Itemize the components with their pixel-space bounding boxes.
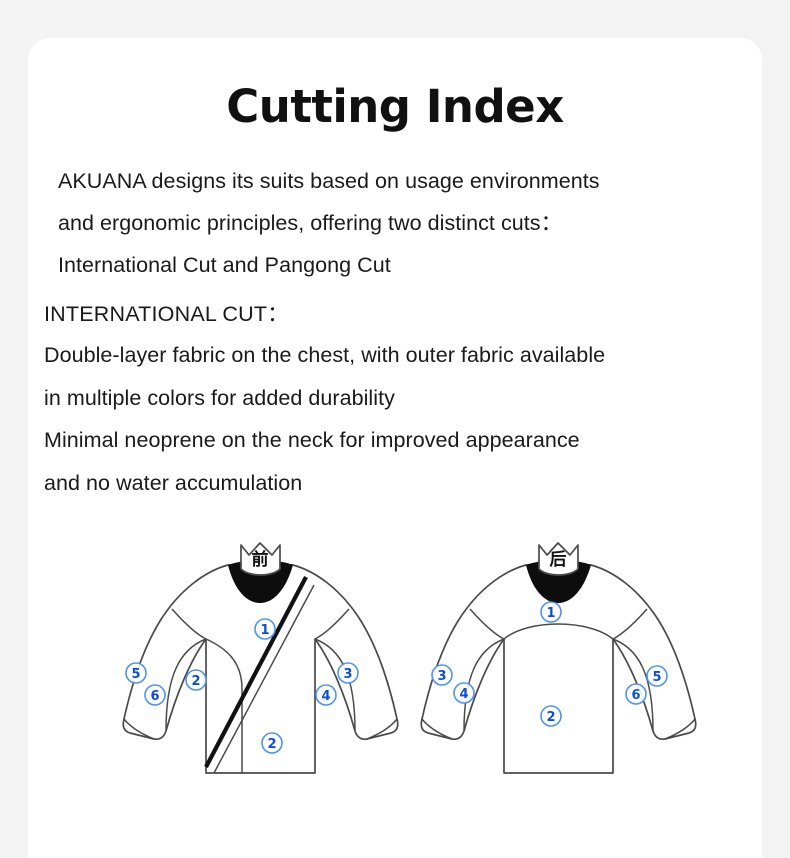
marker-1: 1	[255, 619, 275, 639]
wetsuit-diagrams: 前	[28, 523, 762, 823]
marker-4-label: 4	[459, 687, 468, 702]
body-line-2: in multiple colors for added durability	[44, 386, 395, 410]
marker-1: 1	[541, 602, 561, 622]
page-root: Cutting Index AKUANA designs its suits b…	[0, 0, 790, 839]
international-cut-section: INTERNATIONAL CUT： Double-layer fabric o…	[28, 287, 762, 505]
marker-5-label: 5	[652, 670, 661, 685]
marker-4: 4	[454, 683, 474, 703]
body-line-1: Double-layer fabric on the chest, with o…	[44, 343, 605, 367]
marker-3-label: 3	[343, 667, 352, 682]
front-view-label: 前	[252, 549, 269, 570]
section-heading-international-cut: INTERNATIONAL CUT：	[36, 287, 762, 335]
content-card: Cutting Index AKUANA designs its suits b…	[28, 38, 762, 858]
marker-3-label: 3	[437, 669, 446, 684]
page-title: Cutting Index	[28, 38, 762, 132]
intro-line-1: AKUANA designs its suits based on usage …	[58, 169, 600, 193]
marker-4-label: 4	[321, 689, 330, 704]
marker-4: 4	[316, 685, 336, 705]
marker-2: 2	[541, 706, 561, 726]
marker-6-label: 6	[150, 689, 159, 704]
intro-paragraph: AKUANA designs its suits based on usage …	[28, 132, 762, 287]
body-line-4: and no water accumulation	[44, 471, 302, 495]
marker-2-upper-label: 2	[191, 674, 200, 689]
back-view-label: 后	[550, 550, 567, 570]
marker-6: 6	[626, 684, 646, 704]
marker-3: 3	[338, 663, 358, 683]
marker-1-label: 1	[546, 606, 555, 621]
marker-2-lower: 2	[262, 733, 282, 753]
marker-1-label: 1	[260, 623, 269, 638]
marker-6-label: 6	[631, 688, 640, 703]
marker-2-upper: 2	[186, 670, 206, 690]
intro-line-2: and ergonomic principles, offering two d…	[58, 211, 562, 235]
marker-6: 6	[145, 685, 165, 705]
marker-3: 3	[432, 665, 452, 685]
wetsuit-back-diagram: 后 1	[408, 523, 698, 823]
section-body: Double-layer fabric on the chest, with o…	[36, 334, 762, 504]
marker-2-lower-label: 2	[267, 737, 276, 752]
marker-5-label: 5	[131, 667, 140, 682]
marker-5: 5	[126, 663, 146, 683]
marker-5: 5	[647, 666, 667, 686]
wetsuit-front-diagram: 前	[110, 523, 400, 823]
body-line-3: Minimal neoprene on the neck for improve…	[44, 428, 580, 452]
intro-line-3: International Cut and Pangong Cut	[58, 253, 391, 277]
marker-2-label: 2	[546, 710, 555, 725]
